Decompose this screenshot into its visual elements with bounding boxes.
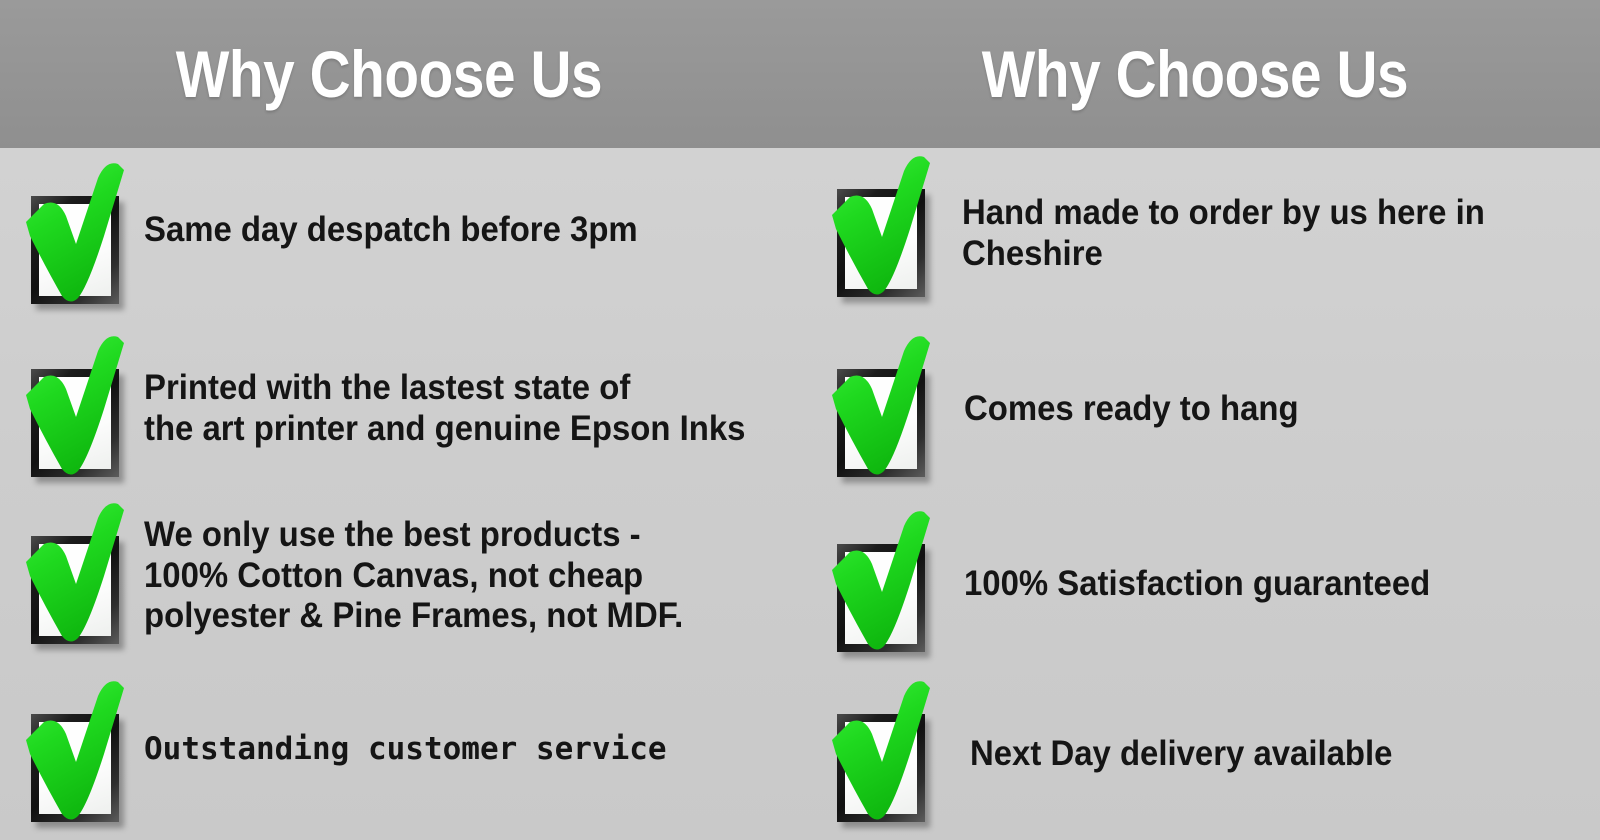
header-left-panel: Why Choose Us [0, 0, 800, 148]
feature-item: Outstanding customer service [14, 678, 667, 830]
feature-item: Hand made to order by us here in Cheshir… [820, 153, 1518, 305]
feature-column-right: Hand made to order by us here in Cheshir… [800, 148, 1600, 840]
features-content: Same day despatch before 3pm Printed wit… [0, 148, 1600, 840]
feature-label: We only use the best products - 100% Cot… [144, 515, 683, 637]
feature-label: Comes ready to hang [964, 389, 1299, 430]
green-check-icon [14, 500, 126, 652]
green-check-icon [14, 333, 126, 485]
feature-column-left: Same day despatch before 3pm Printed wit… [0, 148, 800, 840]
green-check-icon [820, 678, 932, 830]
feature-item: Next Day delivery available [820, 678, 1419, 830]
header-right-panel: Why Choose Us [800, 0, 1600, 148]
page-title-left: Why Choose Us [176, 41, 602, 107]
feature-label: Same day despatch before 3pm [144, 210, 638, 251]
feature-label: Hand made to order by us here in Cheshir… [962, 193, 1485, 274]
feature-item: Printed with the lastest state of the ar… [14, 333, 784, 485]
checkmark-glyph [14, 678, 126, 830]
feature-item: 100% Satisfaction guaranteed [820, 508, 1460, 660]
page-title-right: Why Choose Us [982, 41, 1408, 107]
checkmark-glyph [820, 508, 932, 660]
green-check-icon [14, 160, 126, 312]
feature-label: Outstanding customer service [144, 732, 667, 768]
feature-label: Next Day delivery available [970, 734, 1392, 775]
feature-label: Printed with the lastest state of the ar… [144, 368, 745, 449]
checkmark-glyph [820, 153, 932, 305]
checkmark-glyph [14, 500, 126, 652]
green-check-icon [14, 678, 126, 830]
green-check-icon [820, 153, 932, 305]
feature-item: Same day despatch before 3pm [14, 160, 669, 312]
feature-label: 100% Satisfaction guaranteed [964, 564, 1430, 605]
feature-item: Comes ready to hang [820, 333, 1320, 485]
green-check-icon [820, 508, 932, 660]
checkmark-glyph [820, 333, 932, 485]
green-check-icon [820, 333, 932, 485]
header-bar: Why Choose Us Why Choose Us [0, 0, 1600, 148]
feature-item: We only use the best products - 100% Cot… [14, 500, 718, 652]
checkmark-glyph [14, 333, 126, 485]
checkmark-glyph [14, 160, 126, 312]
checkmark-glyph [820, 678, 932, 830]
